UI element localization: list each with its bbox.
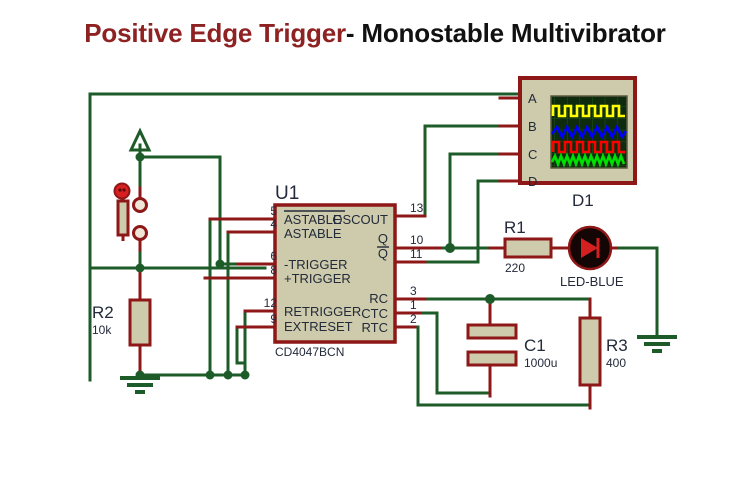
pin-label-q: Q [378, 231, 388, 246]
wire-led-to-ground [612, 248, 657, 337]
pin-label-astable: ASTABLE [284, 226, 342, 241]
ground-symbol-left [120, 378, 160, 392]
r1-ref: R1 [504, 218, 526, 237]
c1-value: 1000u [524, 356, 557, 370]
r3-ref: R3 [606, 336, 628, 355]
pin-num-2: 2 [410, 312, 417, 326]
pin-label-qbar: Q [378, 246, 388, 261]
scope-channel-d: D [528, 174, 537, 189]
pin-num-13: 13 [410, 201, 424, 215]
ic-ref: U1 [275, 183, 299, 204]
wire-vcc-branch-right [140, 157, 220, 264]
ground-symbol-right [637, 337, 677, 351]
resistor-r3 [580, 318, 600, 385]
trace-a [553, 106, 625, 116]
pin-label-pos-trigger: +TRIGGER [284, 271, 351, 286]
pin-num-8: 8 [270, 263, 277, 277]
pin-label-rtc: RTC [362, 320, 388, 335]
pin-num-12: 12 [264, 296, 278, 310]
circuit-diagram: R2 10k U1 CD4047BCN 5 4 6 8 12 9 13 10 1… [0, 0, 750, 500]
pin-num-5: 5 [270, 204, 277, 218]
pin-num-4: 4 [270, 217, 277, 231]
pin-num-6: 6 [270, 249, 277, 263]
capacitor-c1 [468, 325, 516, 365]
scope-channel-b: B [528, 119, 537, 134]
ic-part: CD4047BCN [275, 345, 344, 359]
scope-channel-c: C [528, 147, 537, 162]
r3-value: 400 [606, 356, 626, 370]
resistor-r1 [505, 239, 551, 257]
oscilloscope[interactable]: A B C D [520, 78, 635, 189]
pin-label-extreset: EXTRESET [284, 319, 353, 334]
d1-ref: D1 [572, 191, 594, 210]
pin-label-rc: RC [369, 291, 388, 306]
pin-num-10: 10 [410, 233, 424, 247]
pin-label-neg-trigger: -TRIGGER [284, 257, 348, 272]
pin-label-oscout: OSCOUT [332, 212, 388, 227]
pin-num-9: 9 [270, 312, 277, 326]
scope-channel-a: A [528, 91, 537, 106]
push-button-switch[interactable] [115, 184, 147, 242]
r1-value: 220 [505, 261, 525, 275]
trace-c [553, 142, 625, 152]
r2-ref: R2 [92, 303, 114, 322]
r2-value: 10k [92, 323, 112, 337]
c1-ref: C1 [524, 336, 546, 355]
pin-label-retrigger: RETRIGGER [284, 304, 361, 319]
pin-num-1: 1 [410, 298, 417, 312]
d1-value: LED-BLUE [560, 274, 624, 289]
pin-num-3: 3 [410, 284, 417, 298]
led-d1 [569, 227, 611, 269]
pin-label-ctc: CTC [361, 306, 388, 321]
resistor-r2 [130, 300, 150, 345]
pin-num-11: 11 [410, 247, 423, 261]
